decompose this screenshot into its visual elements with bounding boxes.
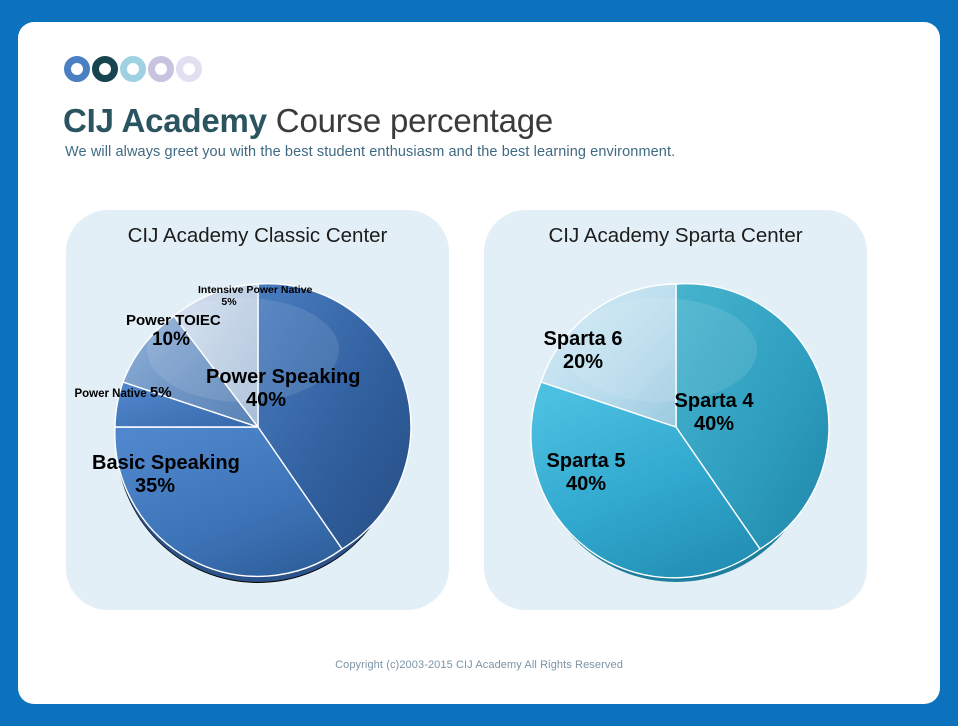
- footer-copyright: Copyright (c)2003-2015 CIJ Academy All R…: [18, 659, 940, 671]
- slide-border-frame: CIJ Academy Course percentage We will al…: [0, 0, 958, 726]
- chart-panel-sparta: CIJ Academy Sparta Center: [484, 210, 867, 610]
- logo-dot-pale-violet-icon: [176, 56, 202, 82]
- logo-dot-blue-icon: [64, 56, 90, 82]
- pie-chart-sparta: Sparta 4 40% Sparta 5 40% Sparta 6 20%: [484, 262, 867, 598]
- logo-dot-dark-teal-icon: [92, 56, 118, 82]
- page-title-rest: Course percentage: [267, 102, 553, 139]
- chart-title-sparta: CIJ Academy Sparta Center: [484, 224, 867, 248]
- pie-svg-sparta: [511, 262, 841, 592]
- chart-title-classic: CIJ Academy Classic Center: [66, 224, 449, 248]
- pie-chart-classic: Power Speaking 40% Basic Speaking 35% Po…: [66, 262, 449, 598]
- logo-dot-lavender-icon: [148, 56, 174, 82]
- pie-svg-classic: [93, 262, 423, 592]
- page-subtitle: We will always greet you with the best s…: [65, 144, 675, 160]
- page-title-brand: CIJ Academy: [63, 102, 267, 139]
- slide-canvas: CIJ Academy Course percentage We will al…: [18, 22, 940, 704]
- logo-dot-light-blue-icon: [120, 56, 146, 82]
- chart-panel-classic: CIJ Academy Classic Center: [66, 210, 449, 610]
- page-title: CIJ Academy Course percentage: [63, 102, 553, 140]
- logo-dots: [64, 56, 202, 82]
